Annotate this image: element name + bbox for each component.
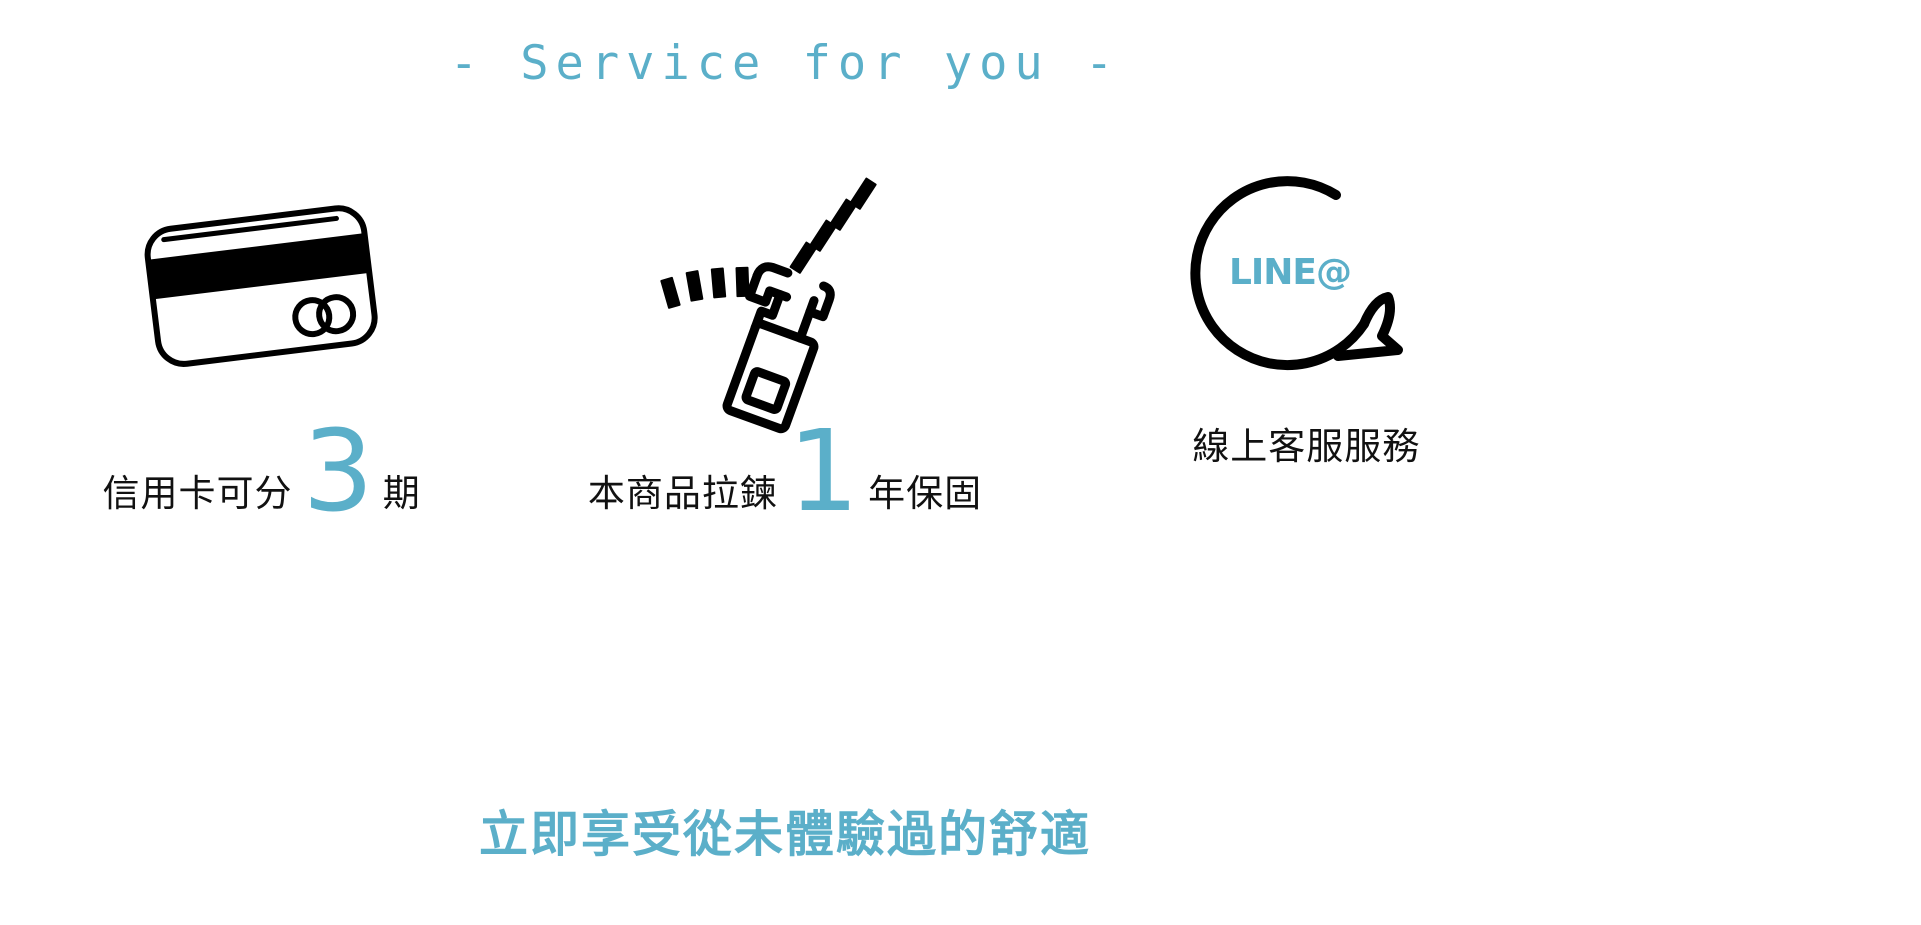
page-title: - Service for you - — [0, 36, 1570, 91]
online-support-caption: 線上客服服務 — [1192, 428, 1424, 465]
zipper-icon — [660, 178, 910, 393]
tagline: 立即享受從未體驗過的舒適 — [0, 795, 1570, 866]
line-at-wordmark: LINE@ — [1229, 252, 1351, 293]
caption-suffix-text: 年保固 — [866, 475, 982, 512]
caption-prefix-text: 線上客服服務 — [1192, 428, 1424, 465]
line-at-speech-bubble-icon: LINE@ — [1188, 178, 1428, 393]
caption-prefix-text: 本商品拉鍊 — [588, 475, 782, 512]
credit-card-icon — [132, 190, 392, 380]
caption-prefix-text: 信用卡可分 — [103, 475, 297, 512]
features-row: 信用卡可分 3 期 — [0, 170, 1570, 512]
credit-card-caption: 信用卡可分 3 期 — [103, 428, 421, 512]
caption-suffix-text: 期 — [381, 475, 421, 512]
feature-online-support: LINE@ 線上客服服務 — [1073, 170, 1543, 465]
line-at-icon-box: LINE@ — [1188, 170, 1428, 400]
zipper-icon-box — [660, 170, 910, 400]
zipper-caption: 本商品拉鍊 1 年保固 — [588, 428, 982, 512]
warranty-years-number: 1 — [782, 432, 866, 513]
feature-zipper-warranty: 本商品拉鍊 1 年保固 — [550, 170, 1020, 512]
installment-number: 3 — [297, 432, 381, 513]
feature-credit-card: 信用卡可分 3 期 — [27, 170, 497, 512]
service-promo-page: - Service for you - — [0, 0, 1921, 925]
credit-card-icon-box — [132, 170, 392, 400]
